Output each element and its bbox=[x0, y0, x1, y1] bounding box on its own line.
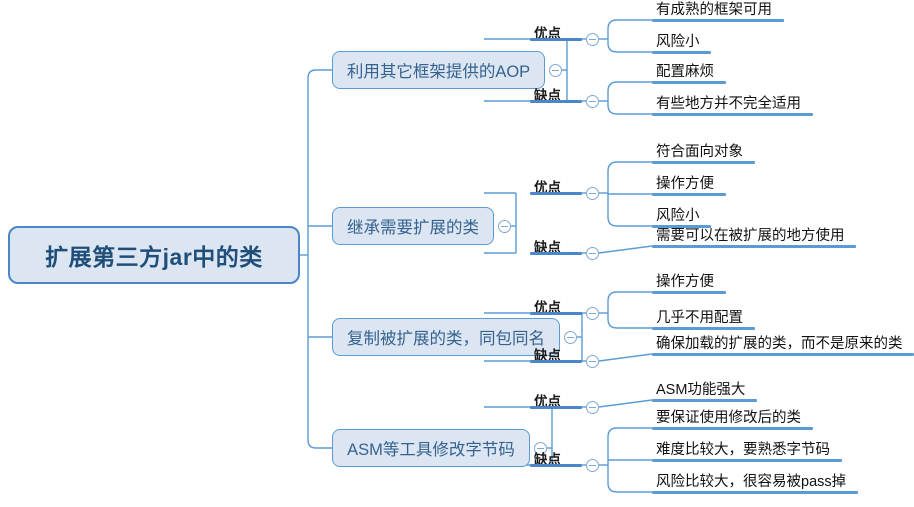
leaf-underline bbox=[652, 51, 711, 54]
branch-node-label: 复制被扩展的类，同包同名 bbox=[347, 325, 545, 349]
leaf-underline bbox=[652, 193, 726, 196]
leaf-node[interactable]: 几乎不用配置 bbox=[656, 306, 743, 327]
leaf-underline bbox=[652, 353, 914, 356]
root-node-label: 扩展第三方jar中的类 bbox=[45, 238, 263, 272]
category-underline bbox=[530, 312, 582, 315]
collapse-minus-icon[interactable] bbox=[586, 187, 599, 200]
leaf-node[interactable]: 要保证使用修改后的类 bbox=[656, 406, 801, 427]
collapse-minus-icon[interactable] bbox=[586, 247, 599, 260]
leaf-node[interactable]: 风险小 bbox=[656, 30, 700, 51]
leaf-underline bbox=[652, 19, 784, 22]
leaf-underline bbox=[652, 81, 726, 84]
leaf-underline bbox=[652, 459, 842, 462]
leaf-node[interactable]: 确保加载的扩展的类，而不是原来的类 bbox=[656, 332, 903, 353]
leaf-underline bbox=[652, 491, 858, 494]
root-node[interactable]: 扩展第三方jar中的类 bbox=[8, 226, 300, 284]
leaf-underline bbox=[652, 291, 726, 294]
category-underline bbox=[530, 38, 582, 41]
leaf-underline bbox=[652, 327, 755, 330]
leaf-node[interactable]: 符合面向对象 bbox=[656, 140, 743, 161]
collapse-minus-icon[interactable] bbox=[498, 220, 511, 233]
leaf-node[interactable]: ASM功能强大 bbox=[656, 378, 745, 399]
category-underline bbox=[530, 252, 582, 255]
leaf-node[interactable]: 有些地方并不完全适用 bbox=[656, 92, 801, 113]
leaf-node[interactable]: 风险小 bbox=[656, 204, 700, 225]
category-underline bbox=[530, 192, 582, 195]
mindmap-canvas: 扩展第三方jar中的类 利用其它框架提供的AOP优点有成熟的框架可用风险小缺点配… bbox=[0, 0, 914, 507]
leaf-underline bbox=[652, 399, 757, 402]
leaf-node[interactable]: 风险比较大，很容易被pass掉 bbox=[656, 470, 846, 491]
branch-node[interactable]: ASM等工具修改字节码 bbox=[332, 429, 530, 467]
leaf-node[interactable]: 操作方便 bbox=[656, 172, 714, 193]
leaf-node[interactable]: 配置麻烦 bbox=[656, 60, 714, 81]
category-underline bbox=[530, 100, 582, 103]
branch-node[interactable]: 复制被扩展的类，同包同名 bbox=[332, 318, 560, 356]
collapse-minus-icon[interactable] bbox=[586, 355, 599, 368]
collapse-minus-icon[interactable] bbox=[586, 307, 599, 320]
collapse-minus-icon[interactable] bbox=[549, 64, 562, 77]
category-underline bbox=[530, 360, 582, 363]
collapse-minus-icon[interactable] bbox=[586, 33, 599, 46]
collapse-minus-icon[interactable] bbox=[586, 401, 599, 414]
leaf-node[interactable]: 有成熟的框架可用 bbox=[656, 0, 772, 19]
leaf-node[interactable]: 需要可以在被扩展的地方使用 bbox=[656, 224, 845, 245]
branch-node-label: ASM等工具修改字节码 bbox=[347, 436, 515, 460]
collapse-minus-icon[interactable] bbox=[586, 95, 599, 108]
leaf-underline bbox=[652, 427, 813, 430]
leaf-underline bbox=[652, 161, 755, 164]
category-underline bbox=[530, 464, 582, 467]
collapse-minus-icon[interactable] bbox=[564, 331, 577, 344]
collapse-minus-icon[interactable] bbox=[586, 459, 599, 472]
leaf-node[interactable]: 难度比较大，要熟悉字节码 bbox=[656, 438, 830, 459]
branch-node[interactable]: 利用其它框架提供的AOP bbox=[332, 51, 545, 89]
leaf-node[interactable]: 操作方便 bbox=[656, 270, 714, 291]
branch-node[interactable]: 继承需要扩展的类 bbox=[332, 207, 494, 245]
branch-node-label: 继承需要扩展的类 bbox=[347, 214, 479, 238]
category-underline bbox=[530, 406, 582, 409]
leaf-underline bbox=[652, 245, 856, 248]
branch-node-label: 利用其它框架提供的AOP bbox=[347, 58, 530, 82]
leaf-underline bbox=[652, 113, 813, 116]
